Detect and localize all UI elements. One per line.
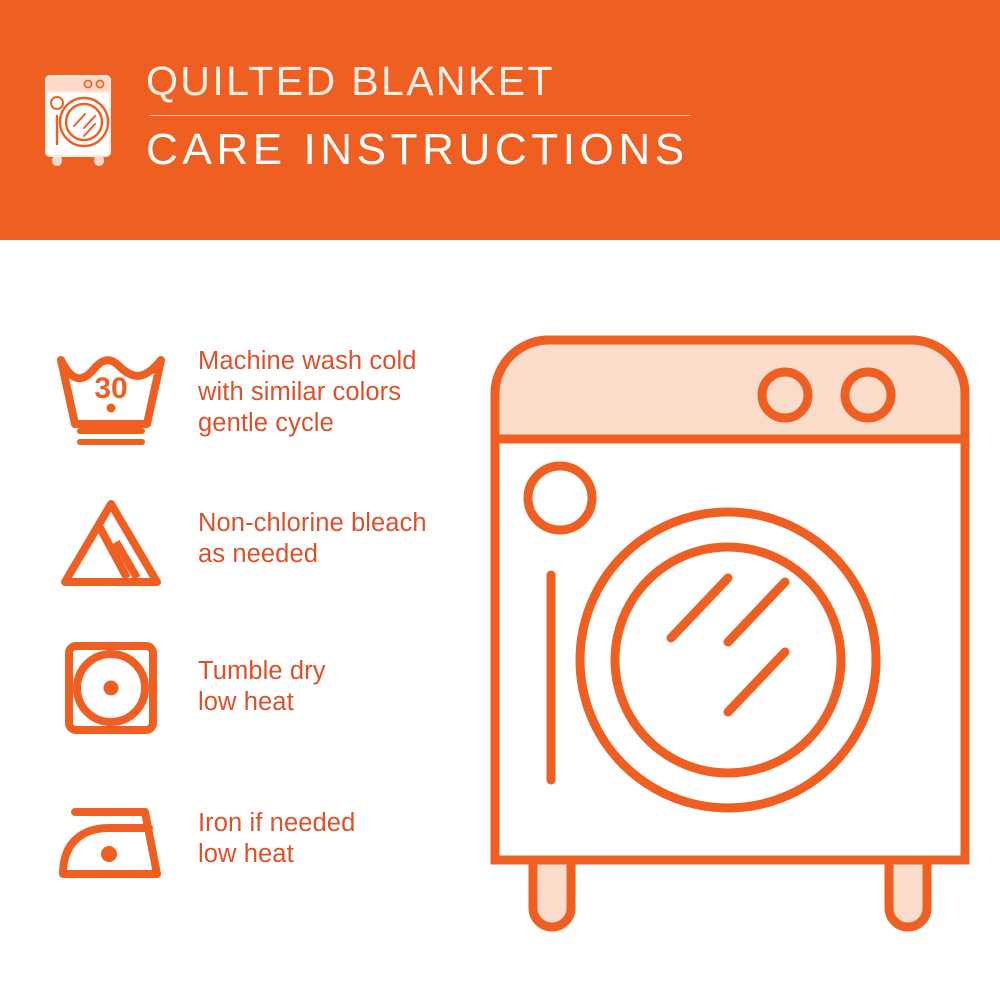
- care-instruction-list: 30 Machine wash cold with similar colors…: [46, 338, 466, 922]
- care-text-line: low heat: [198, 687, 326, 718]
- care-text-line: with similar colors: [198, 377, 417, 408]
- care-text-line: gentle cycle: [198, 408, 417, 439]
- tumble-dry-low-icon: [46, 630, 176, 740]
- front-load-washing-machine-illustration: [485, 330, 975, 950]
- care-text-line: as needed: [198, 539, 427, 570]
- header-banner: QUILTED BLANKET CARE INSTRUCTIONS: [0, 0, 1000, 240]
- page-title-primary: QUILTED BLANKET: [146, 58, 691, 104]
- leg-left: [533, 860, 571, 927]
- care-text-iron: Iron if needed low heat: [198, 776, 355, 870]
- list-item: 30 Machine wash cold with similar colors…: [46, 338, 466, 484]
- care-text-line: Non-chlorine bleach: [198, 508, 427, 539]
- care-text-line: Iron if needed: [198, 808, 355, 839]
- care-text-line: Machine wash cold: [198, 346, 417, 377]
- washing-machine-icon: [40, 58, 124, 168]
- header-title-block: QUILTED BLANKET CARE INSTRUCTIONS: [146, 58, 691, 175]
- list-item: Non-chlorine bleach as needed: [46, 484, 466, 630]
- iron-low-heat-icon: [46, 776, 176, 902]
- title-divider: [149, 115, 691, 116]
- wash-temperature-label: 30: [94, 372, 127, 405]
- header-content: QUILTED BLANKET CARE INSTRUCTIONS: [40, 58, 691, 175]
- main-content: 30 Machine wash cold with similar colors…: [0, 240, 1000, 1000]
- care-text-line: Tumble dry: [198, 656, 326, 687]
- care-text-bleach: Non-chlorine bleach as needed: [198, 484, 427, 570]
- leg-right: [889, 860, 927, 927]
- care-text-dry: Tumble dry low heat: [198, 630, 326, 718]
- wash-basin-gentle-icon: 30: [46, 338, 176, 450]
- list-item: Iron if needed low heat: [46, 776, 466, 922]
- non-chlorine-bleach-triangle-icon: [46, 484, 176, 594]
- page-title-secondary: CARE INSTRUCTIONS: [146, 125, 691, 175]
- list-item: Tumble dry low heat: [46, 630, 466, 776]
- care-text-wash: Machine wash cold with similar colors ge…: [198, 338, 417, 439]
- care-text-line: low heat: [198, 839, 355, 870]
